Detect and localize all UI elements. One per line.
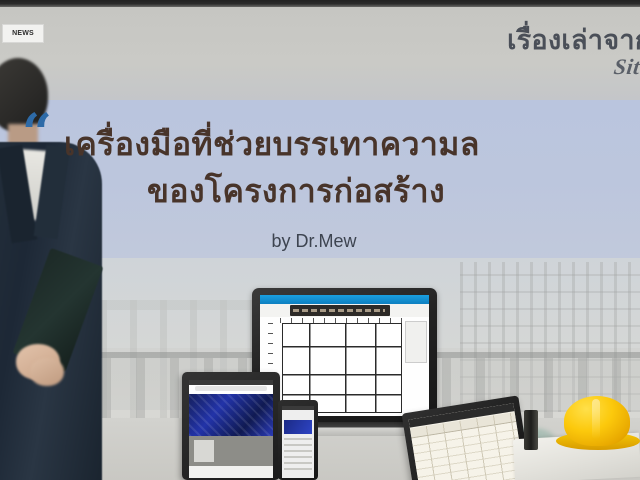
headline-line-1: เครื่องมือที่ช่วยบรรเทาความล bbox=[64, 128, 640, 160]
headline-line-2: ของโครงการก่อสร้าง bbox=[0, 175, 640, 207]
tablet-hero-image bbox=[189, 394, 273, 436]
person-hand-secondary bbox=[30, 358, 64, 386]
laptop-tool-palette bbox=[405, 321, 427, 363]
tablet-content-card bbox=[194, 440, 214, 462]
top-dark-bar bbox=[0, 0, 640, 7]
banner-image: NEWS เรื่องเล่าจากไซ Site St “ เครื่องมื… bbox=[0, 0, 640, 480]
headline-block: เครื่องมือที่ช่วยบรรเทาความล ของโครงการก… bbox=[0, 128, 640, 207]
phone-device bbox=[278, 400, 318, 480]
phone-hero-banner bbox=[284, 420, 312, 434]
header-script-subtitle: Site St bbox=[613, 54, 640, 80]
dark-post bbox=[524, 410, 538, 450]
hardhat-ridge bbox=[592, 399, 600, 439]
phone-text-lines bbox=[284, 438, 312, 472]
tablet-portrait-device bbox=[182, 372, 280, 480]
tablet-url-bar bbox=[195, 386, 267, 391]
laptop-app-titlebar bbox=[260, 295, 429, 304]
tablet-footer bbox=[189, 466, 273, 478]
hardhat-icon bbox=[556, 396, 640, 450]
phone-screen bbox=[282, 406, 314, 478]
tablet-tilted-screen bbox=[409, 403, 527, 480]
tablet-portrait-screen bbox=[189, 380, 273, 478]
laptop-screen bbox=[260, 295, 429, 416]
byline: by Dr.Mew bbox=[0, 231, 634, 252]
laptop-drawing-title-block bbox=[290, 305, 390, 316]
tablet-browser-chrome bbox=[189, 380, 273, 385]
corner-badge: NEWS bbox=[2, 24, 44, 43]
businessman-figure bbox=[0, 58, 114, 480]
phone-status-bar bbox=[282, 406, 314, 410]
